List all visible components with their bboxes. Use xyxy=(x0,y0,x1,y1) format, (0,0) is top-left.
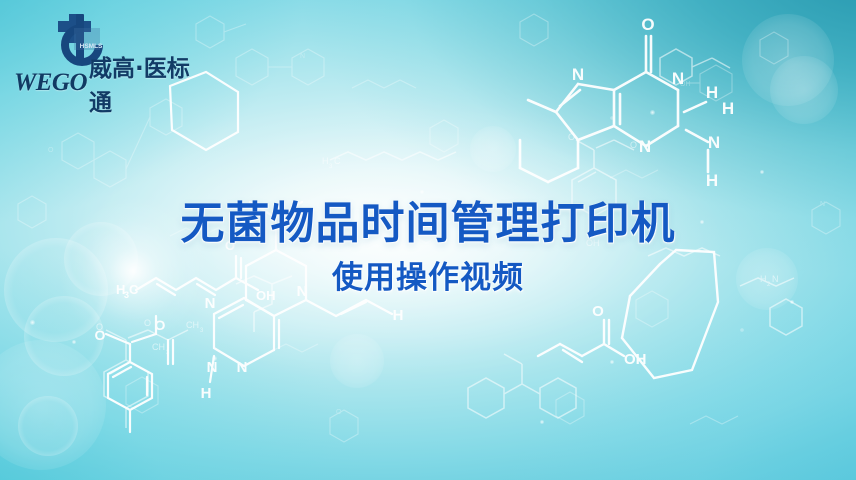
sub-title: 使用操作视频 xyxy=(0,260,856,296)
brand-logo[interactable]: HSMLS WEGO 威高·医标通 xyxy=(14,12,214,98)
title-slide: O N OH N O xyxy=(0,0,856,480)
wordmark-separator: · xyxy=(135,56,144,82)
wordmark-chinese: 威高·医标通 xyxy=(89,49,200,117)
title-block: 无菌物品时间管理打印机 使用操作视频 xyxy=(0,198,856,296)
wordmark-latin: WEGO xyxy=(14,69,87,97)
brand-wordmark: WEGO 威高·医标通 xyxy=(14,68,200,98)
main-title: 无菌物品时间管理打印机 xyxy=(0,198,856,250)
wordmark-cn-brand: 威高 xyxy=(89,56,135,82)
